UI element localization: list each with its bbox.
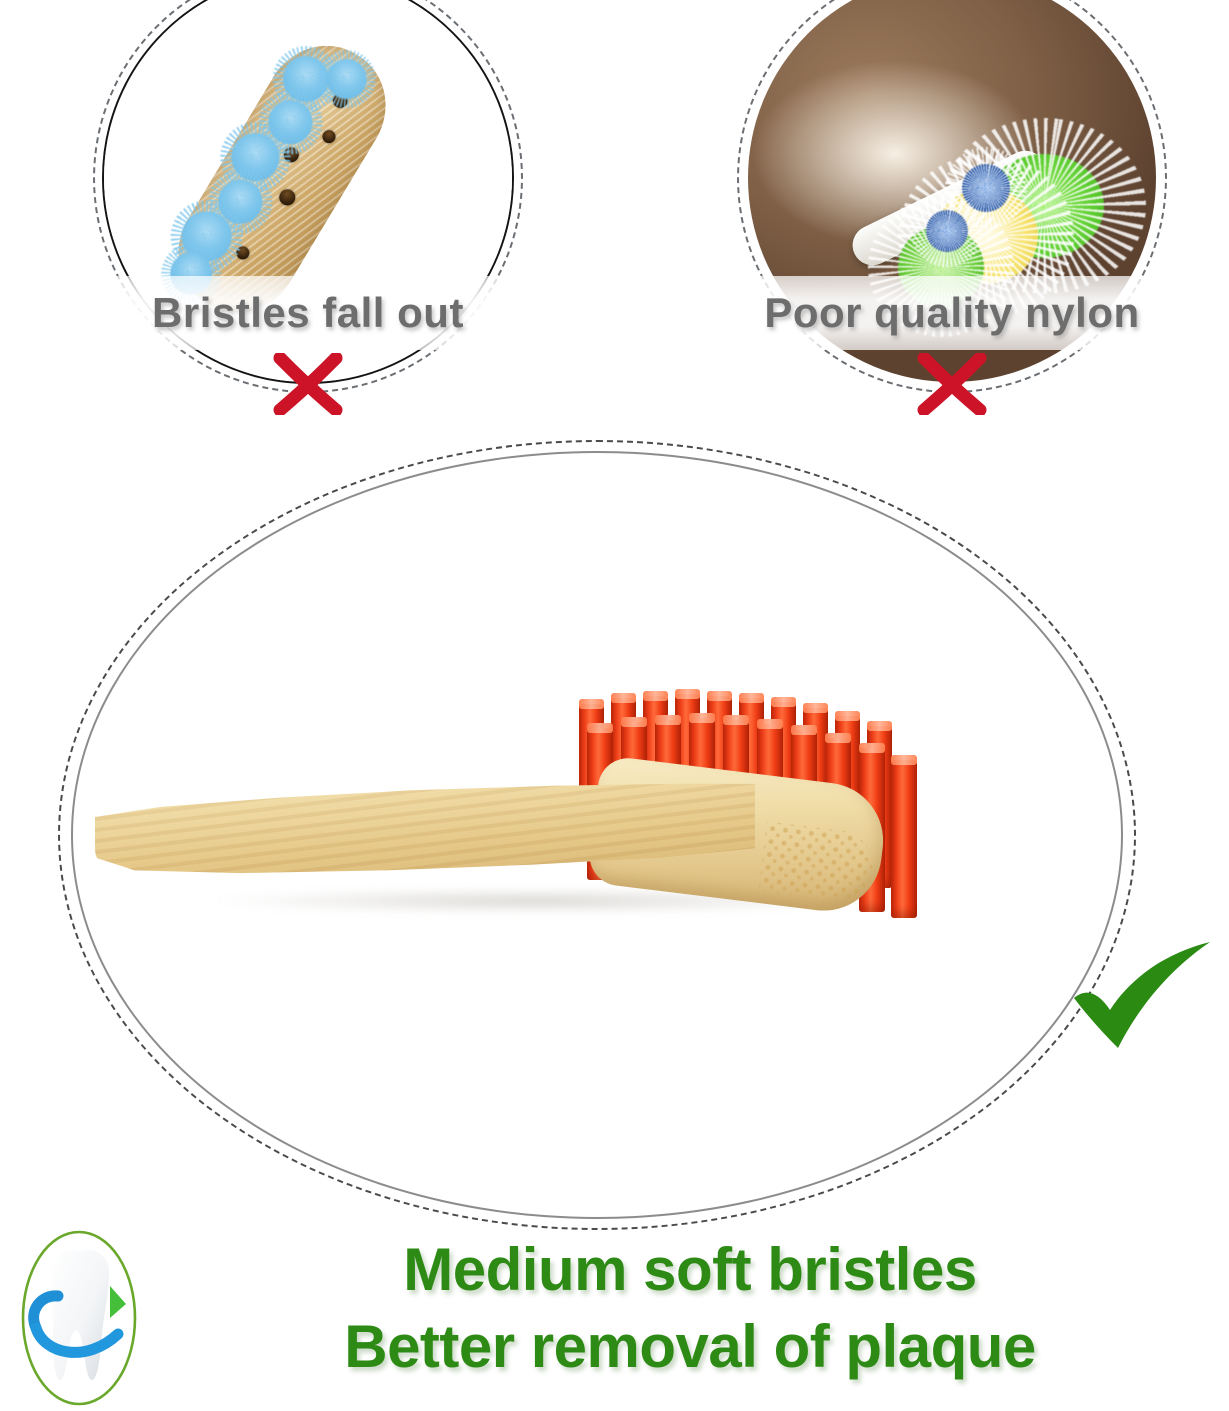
bamboo-end-grain-texture [758,821,876,904]
bamboo-handle [95,758,855,896]
green-check-icon [1062,936,1222,1056]
comparison-label-band: Poor quality nylon [725,276,1179,350]
comparison-label-band: Bristles fall out [81,276,535,350]
comparison-card-poor-quality-nylon: Poor quality nylon [737,0,1167,393]
footer-text-block: Medium soft bristles Better removal of p… [160,1232,1220,1386]
bamboo-toothbrush-photo [95,670,895,1060]
red-x-icon [915,353,989,415]
red-x-icon [271,353,345,415]
footer-line-1: Medium soft bristles [160,1232,1220,1309]
footer-line-2: Better removal of plaque [160,1309,1220,1386]
comparison-label: Poor quality nylon [764,289,1139,337]
footer-claims: Medium soft bristles Better removal of p… [0,1226,1229,1411]
tooth-icon [14,1228,144,1408]
comparison-card-bristles-fall-out: Bristles fall out [93,0,523,393]
comparison-label: Bristles fall out [152,289,464,337]
